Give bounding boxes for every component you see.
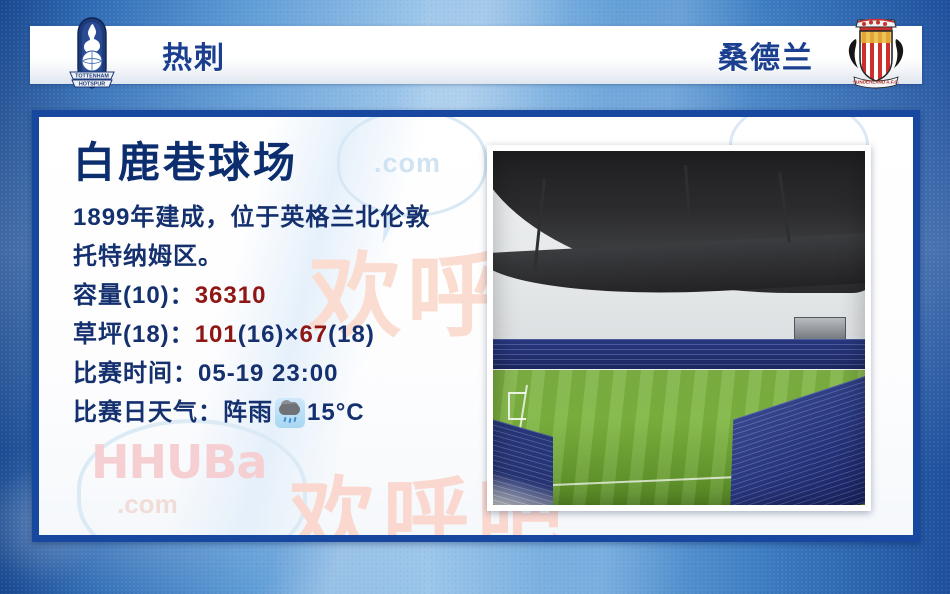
match-time-row: 比赛时间：05-19 23:00 (73, 355, 493, 394)
pitch-row: 草坪(18)：101(16)×67(18) (73, 316, 493, 355)
stadium-photo-frame (487, 145, 871, 511)
stadium-description-line-2: 托特纳姆区。 (73, 238, 493, 277)
capacity-row: 容量(10)：36310 (73, 277, 493, 316)
pitch-width-unit: (18) (328, 321, 375, 348)
pitch-length-unit: (16) (238, 321, 285, 348)
match-time-value: 05-19 23:00 (198, 360, 338, 387)
stadium-info-text: 白鹿巷球场 1899年建成，位于英格兰北伦敦 托特纳姆区。 容量(10)：363… (73, 139, 493, 433)
capacity-value: 36310 (195, 282, 267, 309)
tottenham-hotspur-crest: TOTTENHAM HOTSPUR (64, 16, 120, 90)
svg-text:HOTSPUR: HOTSPUR (79, 82, 105, 88)
weather-label: 比赛日天气： (73, 394, 223, 433)
capacity-label: 容量(10)： (73, 282, 195, 309)
away-team-name: 桑德兰 (718, 33, 814, 77)
white-hart-lane-stadium-photo (493, 151, 865, 505)
weather-condition: 阵雨 (223, 394, 273, 433)
stadium-description-line-1: 1899年建成，位于英格兰北伦敦 (73, 199, 493, 238)
sunderland-afc-crest: SUNDERLAND A.F.C. (844, 17, 900, 91)
shower-rain-icon (275, 398, 305, 428)
stadium-info-panel: .com .com 欢呼吧 HHUBa .com 欢呼吧 白鹿巷球场 1899年… (32, 110, 920, 542)
pitch-width-value: 67 (299, 321, 328, 348)
temperature-value: 15°C (307, 394, 365, 433)
pitch-length-value: 101 (195, 321, 238, 348)
match-header-bar: TOTTENHAM HOTSPUR 热刺 桑德兰 (30, 26, 922, 84)
slide-canvas: TOTTENHAM HOTSPUR 热刺 桑德兰 (0, 0, 950, 594)
home-team-name: 热刺 (162, 33, 226, 77)
svg-text:TOTTENHAM: TOTTENHAM (75, 74, 109, 80)
match-weather-row: 比赛日天气：阵雨 15°C (73, 394, 493, 433)
pitch-times-symbol: × (284, 321, 299, 348)
svg-text:SUNDERLAND A.F.C.: SUNDERLAND A.F.C. (853, 80, 899, 85)
match-time-label: 比赛时间： (73, 360, 198, 387)
pitch-label: 草坪(18)： (73, 321, 195, 348)
stadium-title: 白鹿巷球场 (73, 139, 493, 187)
